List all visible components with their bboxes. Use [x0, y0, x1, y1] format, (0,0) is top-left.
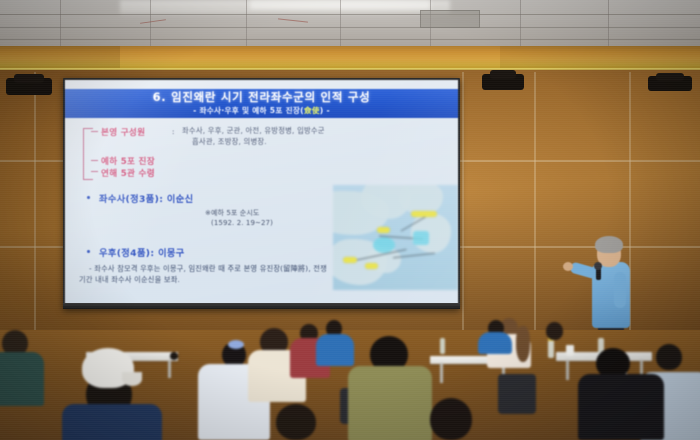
slide-subtitle-right: ) - — [320, 106, 330, 115]
ceiling-grid-line — [520, 0, 521, 48]
attendee-torso — [578, 374, 664, 440]
cap-brim — [122, 372, 142, 386]
map-label-pill — [411, 211, 437, 217]
map-label-pill — [343, 257, 357, 263]
ceiling-vent — [420, 10, 480, 28]
slide-map — [333, 185, 458, 290]
brace-item-label-1: 예하 5포 진장 — [101, 155, 155, 167]
brace-item-colon-0: : — [172, 127, 175, 136]
table-leg — [440, 363, 443, 383]
attendee-torso — [316, 334, 354, 366]
attendee-torso — [478, 332, 512, 354]
slide-subtitle: - 좌수사·우후 및 예하 5포 진장(僉使) - — [65, 105, 458, 116]
brace-item-label-0: 본영 구성원 — [101, 126, 145, 138]
map-label-pill — [365, 263, 378, 269]
table-leg — [168, 360, 171, 378]
brace-tick — [91, 171, 98, 172]
water-bottle — [548, 340, 554, 358]
brace-tick — [91, 131, 98, 132]
bullet-sub-1-line2: 기간 내내 좌수사 이순신을 보좌. — [79, 275, 180, 285]
attendee-ponytail — [516, 326, 530, 362]
slide-subtitle-left: - 좌수사·우후 및 예하 5포 진장( — [193, 106, 304, 115]
brace-item-value-0-line1: 좌수사, 우후, 군관, 아전, 유방정병, 입방수군 — [182, 126, 325, 136]
screen-bottom-bar — [63, 303, 460, 309]
map-marker-region — [413, 231, 429, 245]
attendee-head — [656, 344, 682, 370]
presenter-arm-right — [614, 272, 626, 308]
presenter-hair — [595, 236, 623, 253]
microphone-head — [594, 262, 602, 270]
ceiling-grid-line — [608, 0, 609, 48]
ceiling-grid-line — [0, 39, 700, 40]
attendee-torso — [348, 366, 432, 440]
ceiling-grid-line — [340, 0, 341, 48]
presenter-hand — [563, 262, 573, 271]
ceiling-grid-line — [0, 14, 700, 15]
brace-item-label-2: 연해 5관 수령 — [101, 167, 155, 179]
map-marker-region — [373, 237, 395, 253]
beam-shadow — [500, 46, 700, 70]
speaker-mount-left — [6, 78, 52, 95]
slide-subtitle-highlight: 僉使 — [304, 106, 320, 115]
bullet-marker-0 — [87, 196, 90, 199]
attendee-head — [170, 352, 178, 360]
ceiling-grid-line — [60, 0, 61, 48]
attendee-head — [276, 404, 316, 440]
bullet-text-0: 좌수사(정3품): 이순신 — [99, 191, 193, 205]
attendee-head — [546, 322, 563, 340]
brace-item-value-0-line2: 흡사관, 조방장, 의병장. — [192, 137, 267, 147]
beam-shadow — [0, 46, 120, 70]
bullet-note-0-line1: ※예하 5포 순시도 — [205, 208, 259, 218]
bullet-text-1: 우후(정4품): 이몽구 — [99, 245, 185, 259]
slide-title: 6. 임진왜란 시기 전라좌수군의 인적 구성 — [65, 89, 458, 105]
bullet-sub-1-line1: - 좌수사 참모격 우후는 이몽구, 임진왜란 때 주로 본영 유진장(留陣將)… — [89, 264, 327, 274]
projection-screen: 6. 임진왜란 시기 전라좌수군의 인적 구성 - 좌수사·우후 및 예하 5포… — [65, 80, 458, 305]
bullet-note-0-line2: (1592. 2. 19~27) — [211, 219, 273, 227]
lecture-photo: 6. 임진왜란 시기 전라좌수군의 인적 구성 - 좌수사·우후 및 예하 5포… — [0, 0, 700, 440]
attendee-torso — [0, 352, 44, 406]
ceiling-grid-line — [246, 0, 247, 48]
bullet-marker-1 — [87, 250, 90, 253]
brace-tick — [91, 160, 98, 161]
hairband — [228, 340, 244, 349]
attendee-head — [430, 398, 472, 440]
ceiling-grid-line — [150, 0, 151, 48]
speaker-mount-center — [482, 74, 524, 90]
chair — [498, 374, 536, 414]
speaker-mount-right — [648, 76, 692, 91]
ceiling-grid-line — [0, 27, 700, 28]
table-leg — [566, 360, 569, 380]
water-bottle — [440, 338, 445, 354]
attendee-torso — [62, 404, 162, 440]
map-label-pill — [377, 227, 390, 233]
paper-cup — [566, 345, 574, 356]
